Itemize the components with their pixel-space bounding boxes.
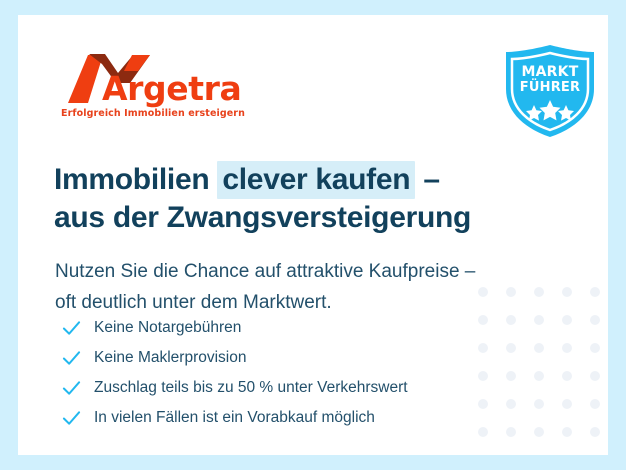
check-icon [62,379,81,398]
badge-line-1: MARKT [522,64,579,80]
list-item: Zuschlag teils bis zu 50 % unter Verkehr… [56,373,526,403]
list-item-label: In vielen Fällen ist ein Vorabkauf mögli… [94,410,375,426]
badge-text: MARKT FÜHRER [498,65,602,95]
decorative-dot [534,343,544,353]
check-icon [62,319,81,338]
headline-part-1: Immobilien [54,163,217,196]
headline-highlight: clever kaufen [217,161,415,199]
headline-part-2: – [415,163,439,196]
subtitle: Nutzen Sie die Chance auf attraktive Kau… [55,256,555,318]
decorative-dot [534,371,544,381]
promo-banner-card: Argetra Erfolgreich Immobilien ersteiger… [18,15,608,455]
decorative-dot [562,287,572,297]
page-title: Immobilien clever kaufen – aus der Zwang… [54,161,554,237]
logo-tagline: Erfolgreich Immobilien ersteigern [61,108,245,119]
decorative-dot [590,315,600,325]
decorative-dot [562,399,572,409]
decorative-dot [562,427,572,437]
list-item-label: Keine Notargebühren [94,320,241,336]
benefits-list: Keine Notargebühren Keine Maklerprovisio… [56,313,526,433]
decorative-dot [534,427,544,437]
list-item-label: Keine Maklerprovision [94,350,247,366]
logo-wordmark: Argetra [102,72,241,105]
decorative-dot [534,399,544,409]
decorative-dot [562,371,572,381]
decorative-dot [590,399,600,409]
decorative-dot [562,315,572,325]
list-item-label: Zuschlag teils bis zu 50 % unter Verkehr… [94,380,408,396]
decorative-dot [590,287,600,297]
decorative-dot [590,371,600,381]
decorative-dot [590,427,600,437]
logo-argetra[interactable]: Argetra Erfolgreich Immobilien ersteiger… [58,51,258,123]
list-item: Keine Notargebühren [56,313,526,343]
decorative-dot [590,343,600,353]
check-icon [62,349,81,368]
check-icon [62,409,81,428]
decorative-dot [562,343,572,353]
badge-line-2: FÜHRER [498,80,602,95]
subtitle-line-2: oft deutlich unter dem Marktwert. [55,292,332,313]
list-item: In vielen Fällen ist ein Vorabkauf mögli… [56,403,526,433]
headline-line-2: aus der Zwangsversteigerung [54,201,471,234]
subtitle-line-1: Nutzen Sie die Chance auf attraktive Kau… [55,261,475,282]
list-item: Keine Maklerprovision [56,343,526,373]
markt-fuehrer-badge: MARKT FÜHRER [498,43,602,139]
